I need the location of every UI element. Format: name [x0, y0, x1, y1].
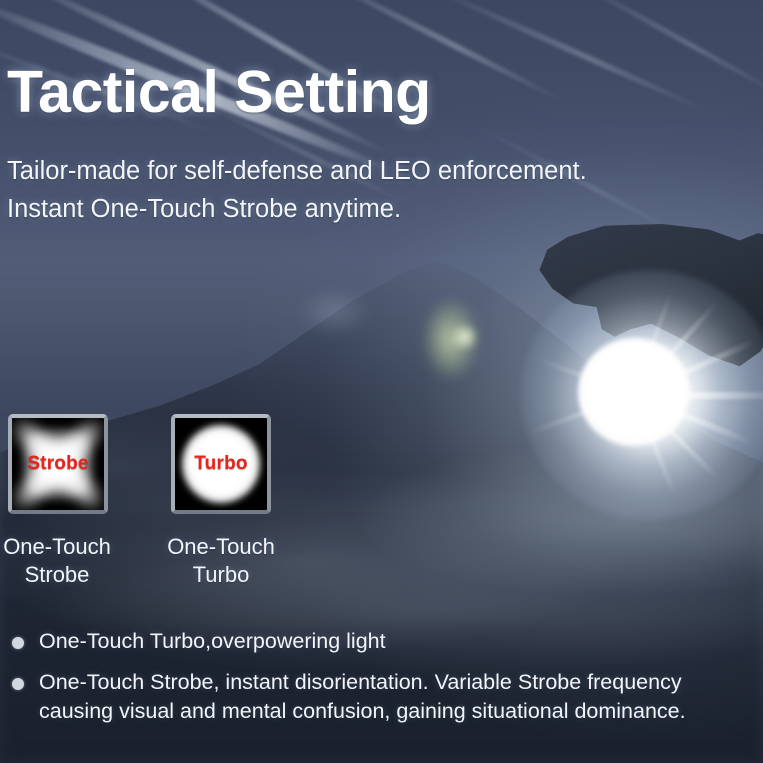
badge-caption-strobe: One-Touch Strobe	[0, 533, 123, 589]
badge-label-turbo: Turbo	[175, 453, 267, 475]
page-title: Tactical Setting	[7, 63, 431, 122]
badge-label-strobe: Strobe	[12, 453, 104, 475]
bullet-dot-icon	[12, 678, 24, 690]
feature-bullet-list: One-Touch Turbo,overpowering light One-T…	[6, 627, 761, 738]
subtitle-line-2: Instant One-Touch Strobe anytime.	[7, 190, 587, 228]
lens-flare-pale	[300, 290, 370, 334]
bullet-text: One-Touch Turbo,overpowering light	[39, 629, 386, 653]
bullet-text: One-Touch Strobe, instant disorientation…	[39, 670, 686, 723]
mode-badge-strobe[interactable]: Strobe	[8, 414, 108, 514]
list-item: One-Touch Turbo,overpowering light	[6, 627, 761, 656]
badge-caption-turbo: One-Touch Turbo	[155, 533, 287, 589]
list-item: One-Touch Strobe, instant disorientation…	[6, 668, 761, 726]
mode-badge-turbo[interactable]: Turbo	[171, 414, 271, 514]
subtitle-block: Tailor-made for self-defense and LEO enf…	[7, 152, 587, 228]
lens-flare-green	[424, 300, 478, 378]
slide-canvas: Tactical Setting Tailor-made for self-de…	[0, 0, 763, 763]
lens-flare-small	[452, 322, 478, 352]
flashlight-beam-core	[578, 338, 690, 446]
subtitle-line-1: Tailor-made for self-defense and LEO enf…	[7, 152, 587, 190]
bullet-dot-icon	[12, 637, 24, 649]
